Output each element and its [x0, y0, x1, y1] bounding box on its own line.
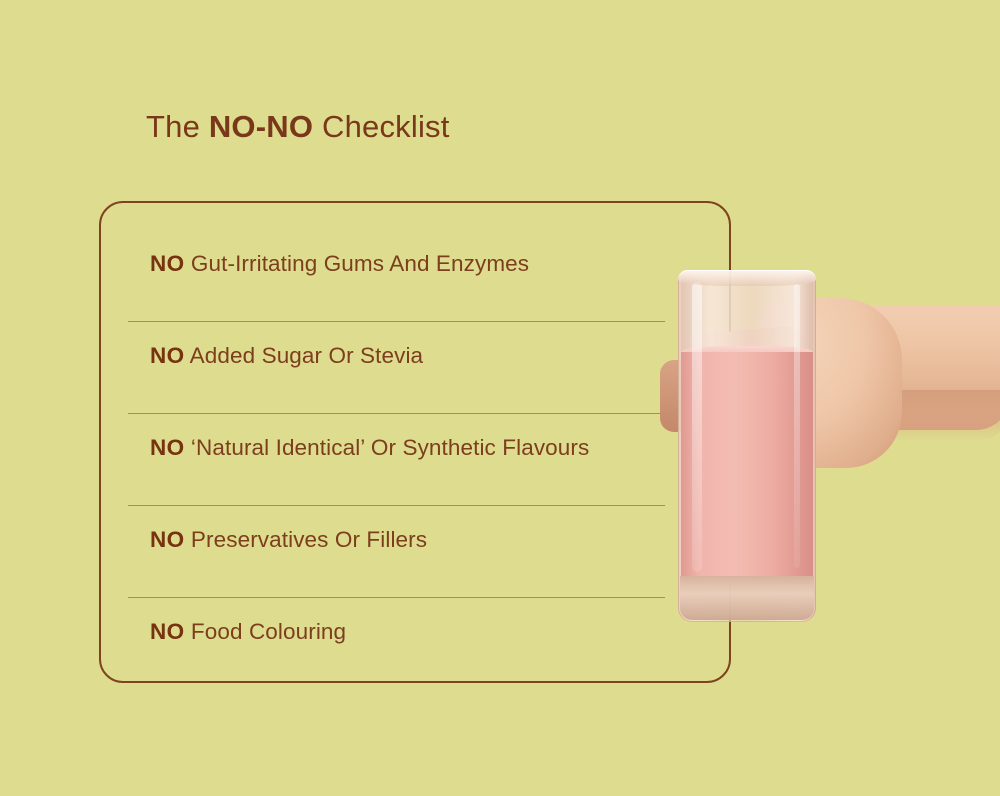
- list-item-text: NO Food Colouring: [150, 618, 346, 646]
- list-item-prefix: NO: [150, 527, 185, 552]
- list-item-prefix: NO: [150, 435, 185, 460]
- glass-rim: [678, 270, 816, 286]
- drinking-glass: [678, 270, 816, 622]
- list-item-label: Food Colouring: [185, 619, 347, 644]
- title-emphasis: NO-NO: [209, 109, 313, 144]
- checklist-graphic: The NO-NO Checklist NO Gut-Irritating Gu…: [0, 0, 1000, 796]
- list-item-prefix: NO: [150, 251, 185, 276]
- glass-highlight: [692, 282, 702, 572]
- hand-holding-glass-image: [640, 250, 1000, 650]
- list-item-prefix: NO: [150, 619, 185, 644]
- list-item-text: NO Preservatives Or Fillers: [150, 526, 427, 554]
- list-item-prefix: NO: [150, 343, 185, 368]
- list-item-label: Added Sugar Or Stevia: [185, 343, 424, 368]
- list-item-text: NO ‘Natural Identical’ Or Synthetic Flav…: [150, 434, 589, 462]
- list-item-label: Gut-Irritating Gums And Enzymes: [185, 251, 530, 276]
- glass-body: [678, 270, 816, 622]
- glass-highlight-secondary: [794, 284, 800, 568]
- list-item-label: ‘Natural Identical’ Or Synthetic Flavour…: [185, 435, 590, 460]
- title-prefix: The: [146, 109, 209, 144]
- page-title: The NO-NO Checklist: [146, 110, 450, 144]
- title-suffix: Checklist: [313, 109, 449, 144]
- list-item-label: Preservatives Or Fillers: [185, 527, 428, 552]
- list-item-text: NO Added Sugar Or Stevia: [150, 342, 423, 370]
- list-item-text: NO Gut-Irritating Gums And Enzymes: [150, 250, 529, 278]
- glass-base: [680, 576, 814, 620]
